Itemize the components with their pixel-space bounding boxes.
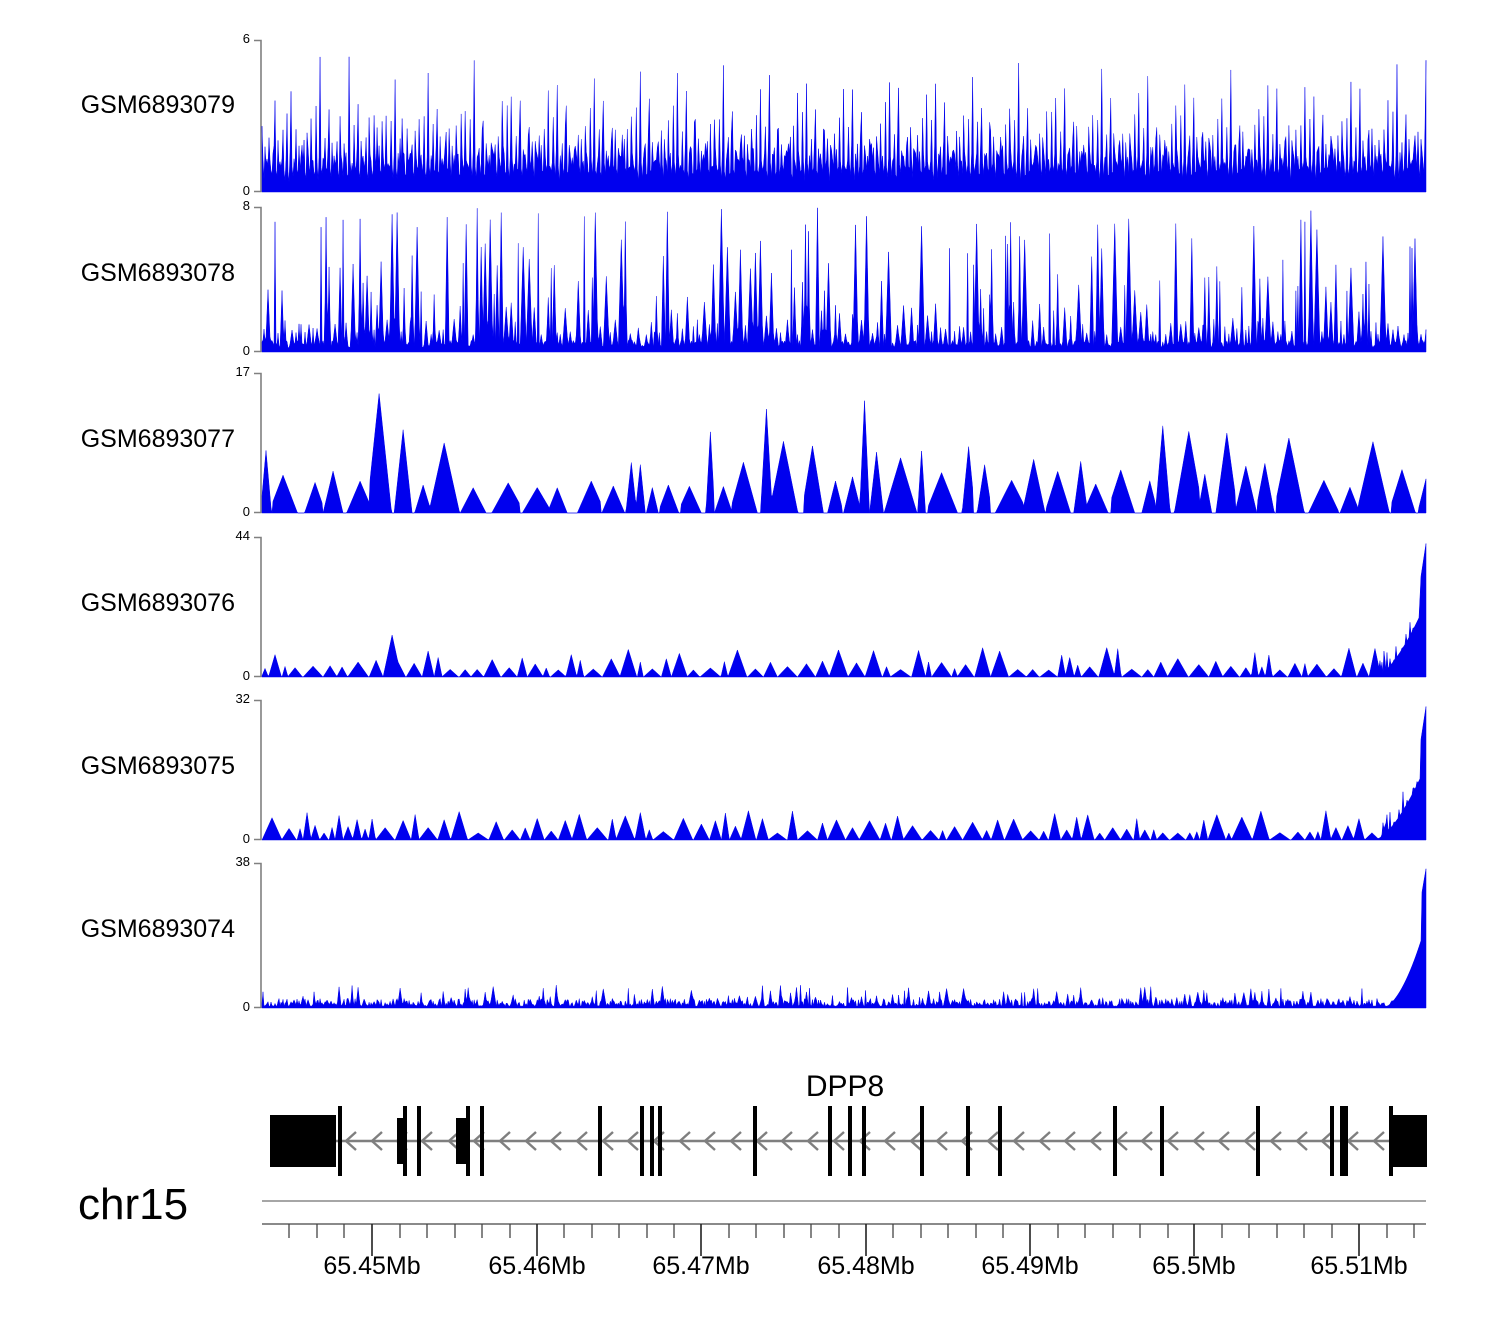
gene-exon <box>966 1106 970 1176</box>
track-y-axis <box>254 864 261 1008</box>
gene-exon <box>417 1106 421 1176</box>
axis-tick-label: 65.49Mb <box>981 1252 1078 1281</box>
axis-tick-label: 65.45Mb <box>323 1252 420 1281</box>
gene-exon <box>1113 1106 1117 1176</box>
track-ymax-label: 6 <box>202 31 250 46</box>
coverage-track-GSM6893076 <box>252 537 1436 683</box>
gene-exon <box>1389 1106 1393 1176</box>
genome-coordinate-axis <box>0 1190 1500 1270</box>
track-y-axis <box>254 208 261 352</box>
coverage-area <box>262 208 1426 352</box>
genome-browser-figure: GSM689307960GSM689307880GSM6893077170GSM… <box>0 0 1500 1320</box>
track-ymax-label: 44 <box>202 528 250 543</box>
axis-tick-label: 65.46Mb <box>488 1252 585 1281</box>
coverage-area <box>262 544 1426 677</box>
coverage-track-GSM6893078 <box>252 207 1436 358</box>
gene-name-label: DPP8 <box>806 1070 884 1104</box>
track-ymin-label: 0 <box>202 343 250 358</box>
gene-exon <box>848 1106 852 1176</box>
gene-exon <box>480 1106 484 1176</box>
coverage-track-GSM6893074 <box>252 863 1436 1014</box>
coverage-track-GSM6893075 <box>252 700 1436 846</box>
track-ymin-label: 0 <box>202 183 250 198</box>
gene-exon <box>828 1106 832 1176</box>
axis-tick-label: 65.48Mb <box>817 1252 914 1281</box>
gene-exon <box>1256 1106 1260 1176</box>
gene-exon <box>456 1118 466 1164</box>
track-ymax-label: 17 <box>202 364 250 379</box>
track-ymax-label: 32 <box>202 691 250 706</box>
track-ymin-label: 0 <box>202 831 250 846</box>
coverage-area <box>262 57 1426 192</box>
track-label-GSM6893076: GSM6893076 <box>75 589 235 618</box>
coverage-area <box>262 707 1426 840</box>
gene-exon <box>403 1106 407 1176</box>
track-ymin-label: 0 <box>202 999 250 1014</box>
track-y-axis <box>254 374 261 513</box>
axis-tick-label: 65.51Mb <box>1310 1252 1407 1281</box>
gene-exon <box>1330 1106 1334 1176</box>
gene-exon <box>598 1106 602 1176</box>
track-label-GSM6893074: GSM6893074 <box>75 915 235 944</box>
track-label-GSM6893075: GSM6893075 <box>75 752 235 781</box>
gene-exon <box>640 1106 644 1176</box>
track-ymax-label: 8 <box>202 198 250 213</box>
track-label-GSM6893079: GSM6893079 <box>75 91 235 120</box>
track-y-axis <box>254 538 261 677</box>
coverage-area <box>262 394 1426 513</box>
coverage-track-GSM6893079 <box>252 40 1436 198</box>
track-y-axis <box>254 701 261 840</box>
gene-exon <box>338 1106 342 1176</box>
gene-exon <box>397 1118 403 1164</box>
track-ymin-label: 0 <box>202 668 250 683</box>
gene-exon <box>862 1106 866 1176</box>
axis-tick-label: 65.5Mb <box>1152 1252 1235 1281</box>
coverage-area <box>262 869 1426 1008</box>
gene-exon <box>1340 1106 1348 1176</box>
track-label-GSM6893078: GSM6893078 <box>75 259 235 288</box>
track-y-axis <box>254 41 261 192</box>
gene-exon <box>466 1106 470 1176</box>
axis-tick-label: 65.47Mb <box>652 1252 749 1281</box>
gene-exon <box>998 1106 1002 1176</box>
track-label-GSM6893077: GSM6893077 <box>75 425 235 454</box>
gene-exon <box>1160 1106 1164 1176</box>
gene-exon <box>753 1106 757 1176</box>
coverage-track-GSM6893077 <box>252 373 1436 519</box>
gene-exon <box>658 1106 662 1176</box>
gene-exon <box>270 1115 336 1167</box>
gene-exon <box>1393 1115 1427 1167</box>
track-ymax-label: 38 <box>202 854 250 869</box>
track-ymin-label: 0 <box>202 504 250 519</box>
gene-exon <box>650 1106 654 1176</box>
gene-exon <box>920 1106 924 1176</box>
